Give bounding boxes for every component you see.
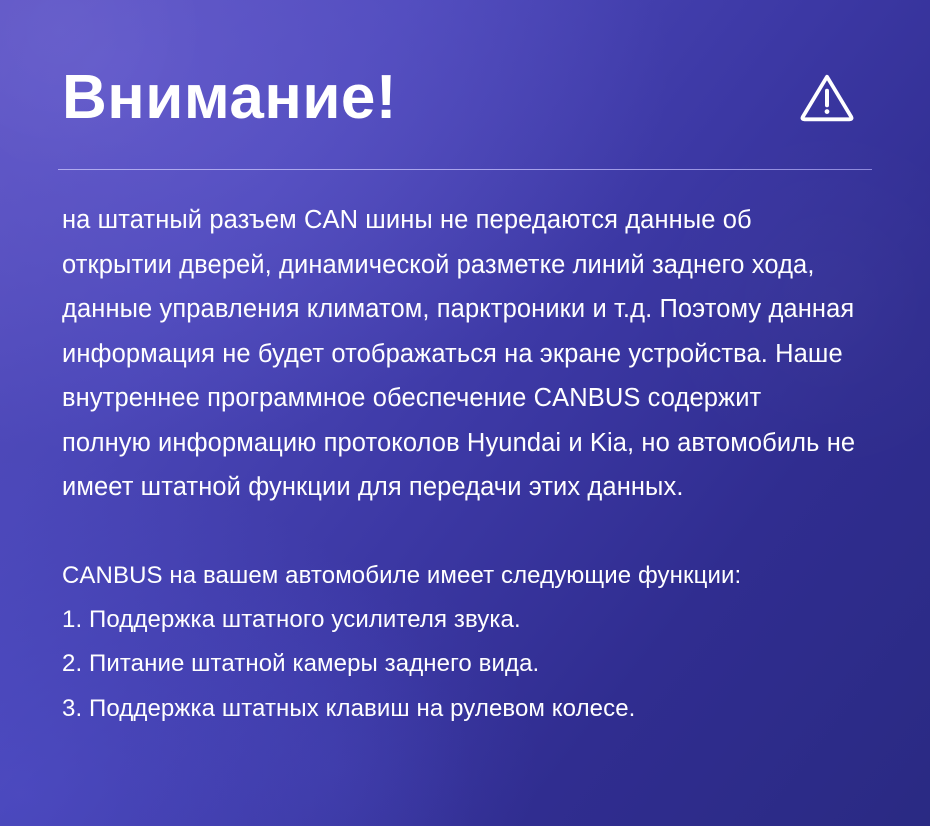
list-item: 3. Поддержка штатных клавиш на рулевом к… (62, 687, 856, 732)
warning-triangle-icon (798, 69, 856, 127)
header-divider (58, 169, 872, 170)
banner-content: Внимание! на штатный разъем CAN шины не … (0, 0, 930, 731)
functions-list-block: CANBUS на вашем автомобиле имеет следующ… (62, 554, 856, 732)
warning-banner: Внимание! на штатный разъем CAN шины не … (0, 0, 930, 826)
list-item: 1. Поддержка штатного усилителя звука. (62, 598, 856, 643)
warning-paragraph: на штатный разъем CAN шины не передаются… (62, 198, 856, 510)
banner-body: на штатный разъем CAN шины не передаются… (56, 198, 874, 731)
list-item: 2. Питание штатной камеры заднего вида. (62, 642, 856, 687)
page-title: Внимание! (62, 67, 397, 129)
functions-list-lead: CANBUS на вашем автомобиле имеет следующ… (62, 554, 856, 598)
banner-header: Внимание! (56, 0, 874, 144)
